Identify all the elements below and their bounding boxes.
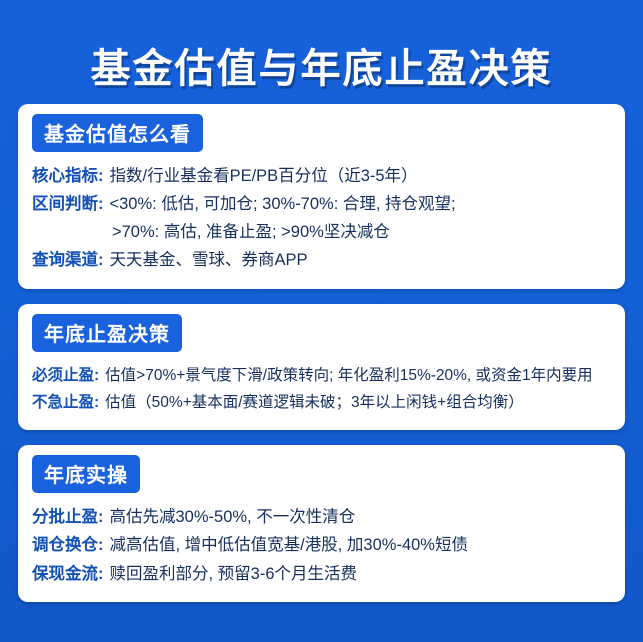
info-row: 分批止盈: 高估先减30%-50%, 不一次性清仓	[32, 506, 611, 529]
page-title: 基金估值与年底止盈决策	[14, 0, 629, 104]
card-heading: 年底止盈决策	[32, 314, 182, 352]
info-row: 必须止盈: 估值>70%+景气度下滑/政策转向; 年化盈利15%-20%, 或资…	[32, 365, 611, 387]
row-label: 调仓换仓:	[32, 534, 104, 557]
row-label: 核心指标:	[32, 165, 104, 188]
info-row: 区间判断: <30%: 低估, 可加仓; 30%-70%: 合理, 持仓观望;	[32, 193, 611, 216]
row-value: 估值>70%+景气度下滑/政策转向; 年化盈利15%-20%, 或资金1年内要用	[105, 365, 611, 387]
row-label: 区间判断:	[32, 193, 104, 216]
info-row: 调仓换仓: 减高估值, 增中低估值宽基/港股, 加30%-40%短债	[32, 534, 611, 557]
poster-container: 基金估值与年底止盈决策 基金估值怎么看 核心指标: 指数/行业基金看PE/PB百…	[0, 0, 643, 642]
card-heading: 年底实操	[32, 455, 140, 493]
row-value: 赎回盈利部分, 预留3-6个月生活费	[110, 563, 612, 586]
row-value: 估值（50%+基本面/赛道逻辑未破；3年以上闲钱+组合均衡）	[105, 392, 611, 414]
row-value: <30%: 低估, 可加仓; 30%-70%: 合理, 持仓观望;	[110, 193, 612, 216]
info-row: 核心指标: 指数/行业基金看PE/PB百分位（近3-5年）	[32, 165, 611, 188]
info-row: 保现金流: 赎回盈利部分, 预留3-6个月生活费	[32, 563, 611, 586]
row-label: 保现金流:	[32, 563, 104, 586]
row-value: 天天基金、雪球、券商APP	[110, 249, 612, 272]
row-value: 指数/行业基金看PE/PB百分位（近3-5年）	[110, 165, 612, 188]
row-label: 查询渠道:	[32, 249, 104, 272]
row-label: 分批止盈:	[32, 506, 104, 529]
card-year-end-actions: 年底实操 分批止盈: 高估先减30%-50%, 不一次性清仓 调仓换仓: 减高估…	[18, 445, 625, 602]
info-row: 不急止盈: 估值（50%+基本面/赛道逻辑未破；3年以上闲钱+组合均衡）	[32, 392, 611, 414]
row-label: 不急止盈:	[32, 392, 99, 414]
row-value: 高估先减30%-50%, 不一次性清仓	[110, 506, 612, 529]
row-value: 减高估值, 增中低估值宽基/港股, 加30%-40%短债	[110, 534, 612, 557]
info-row: 查询渠道: 天天基金、雪球、券商APP	[32, 249, 611, 272]
card-fund-valuation: 基金估值怎么看 核心指标: 指数/行业基金看PE/PB百分位（近3-5年） 区间…	[18, 104, 625, 289]
row-label: 必须止盈:	[32, 365, 99, 387]
card-year-end-profit-taking: 年底止盈决策 必须止盈: 估值>70%+景气度下滑/政策转向; 年化盈利15%-…	[18, 304, 625, 430]
card-heading: 基金估值怎么看	[32, 114, 203, 152]
row-value-continued: >70%: 高估, 准备止盈; >90%坚决减仓	[112, 221, 611, 244]
